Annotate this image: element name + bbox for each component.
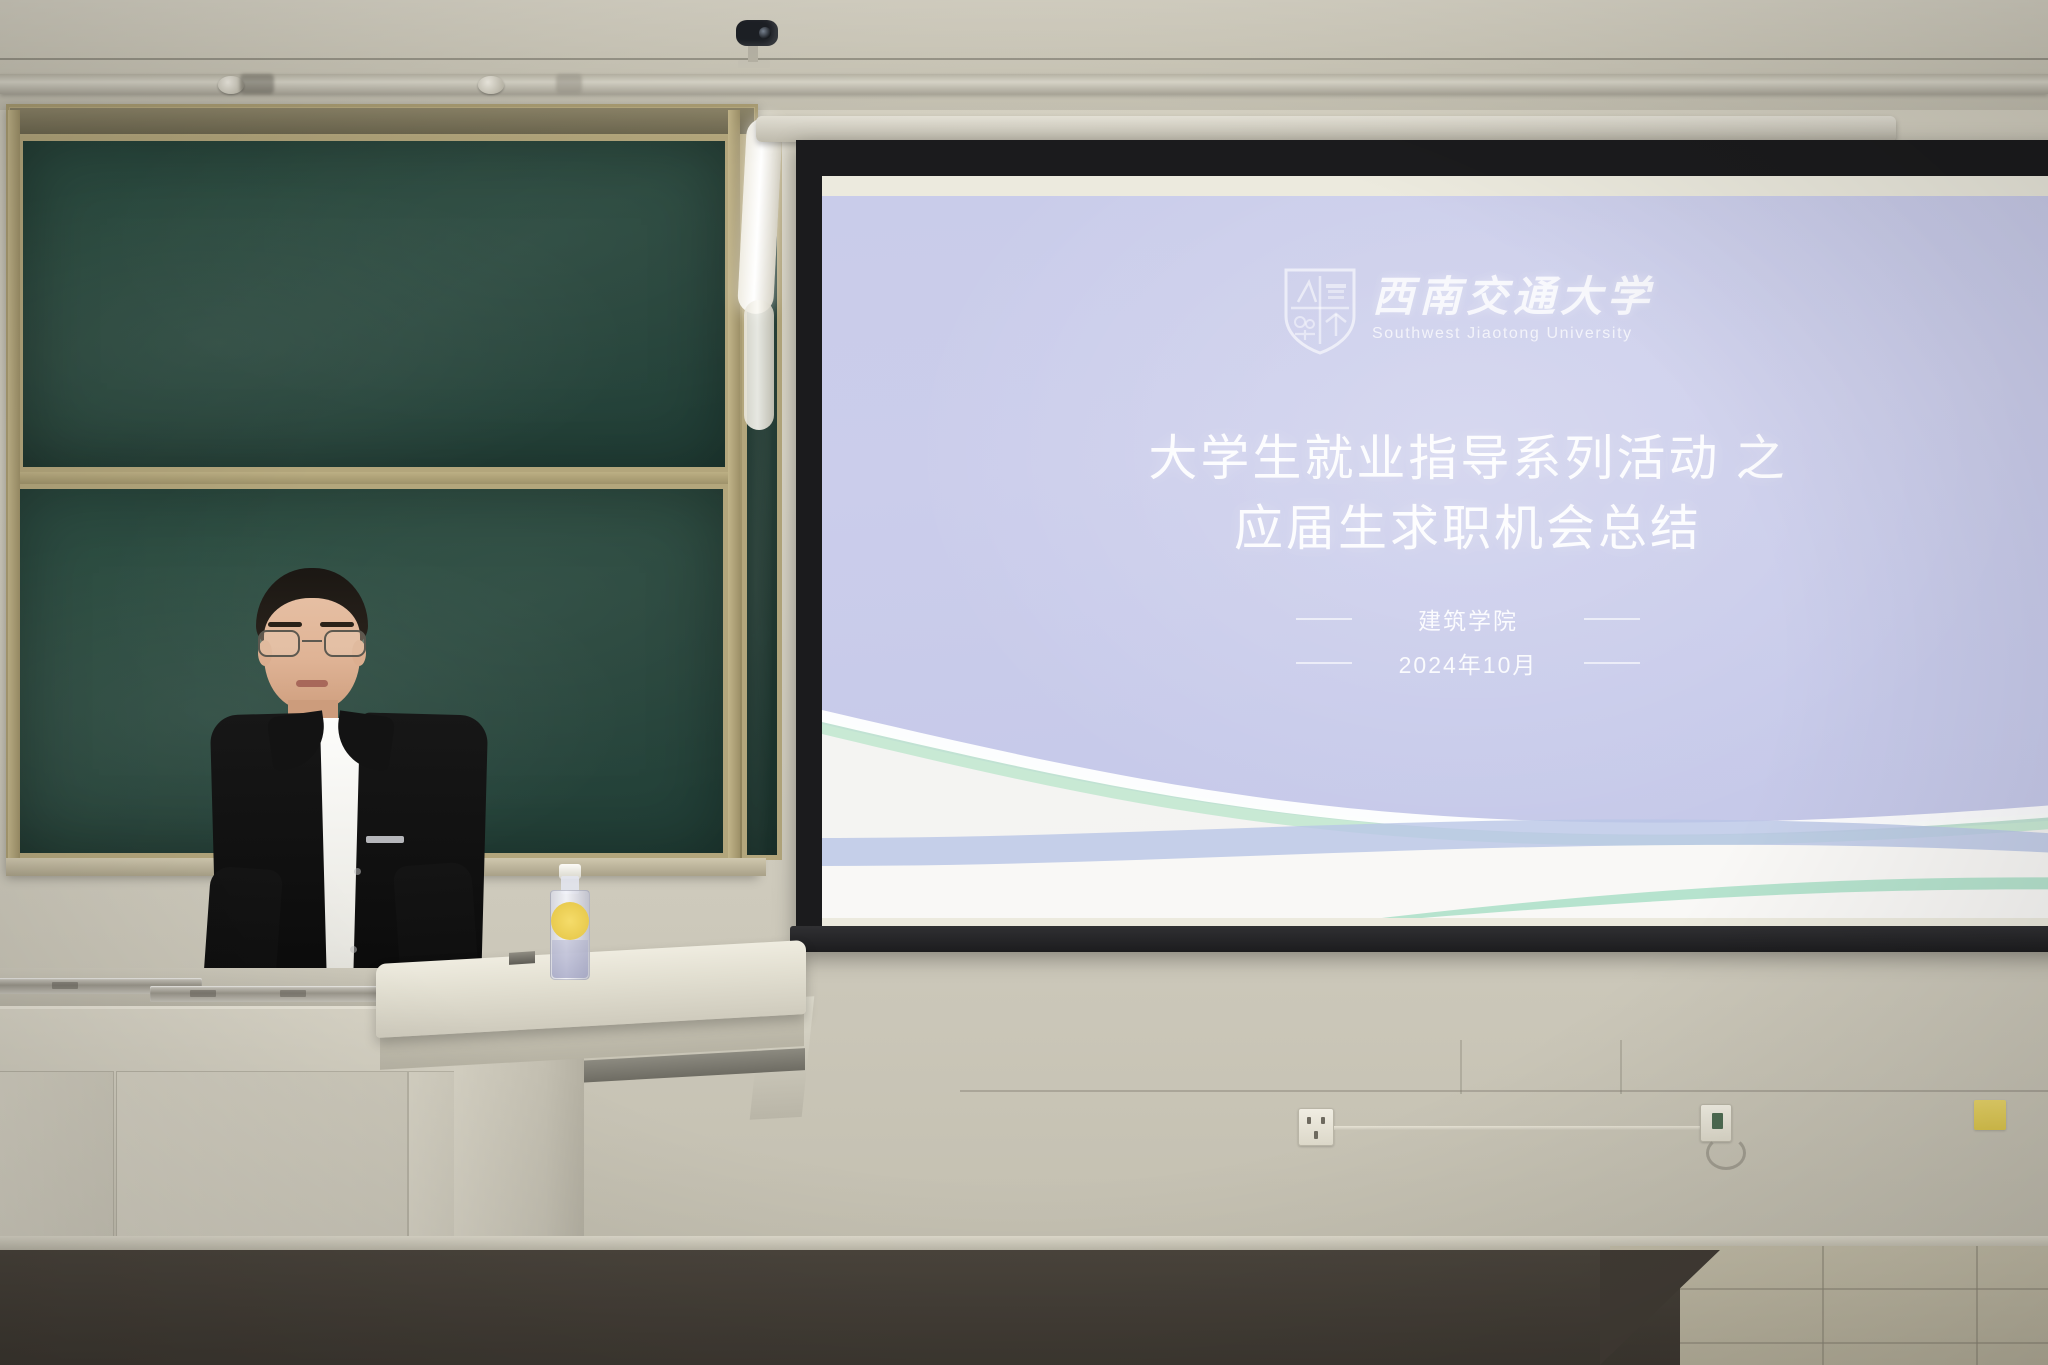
ceiling-fixture-right [478, 76, 504, 94]
jacket-button-1 [354, 868, 361, 875]
chalkboard-rail-left [8, 110, 20, 866]
dash-left-icon [1296, 618, 1352, 620]
logo-english-name: Southwest Jiaotong University [1372, 325, 1633, 343]
eyeglass-lens-right [324, 630, 366, 657]
chalkboard-top-lip [10, 108, 754, 134]
presentation-slide: 西南交通大学 Southwest Jiaotong University 大学生… [822, 196, 2048, 918]
ceiling-bracket [556, 74, 582, 94]
eyeglasses-icon [258, 630, 368, 658]
outlet-slot-c [1314, 1131, 1318, 1139]
camera-lens-icon [759, 27, 771, 39]
outlet-slot-b [1321, 1117, 1325, 1124]
power-outlet[interactable] [1298, 1108, 1334, 1146]
dash-right-icon [1584, 618, 1640, 620]
slide-department: 建筑学院 [1378, 602, 1558, 636]
projector-screen-bottom-bar [790, 926, 2048, 952]
slide-title-line2: 应届生求职机会总结 [822, 494, 2048, 564]
podium-small-card [509, 951, 535, 965]
chalkboard-panel-upper [18, 136, 730, 472]
hanging-cable [1706, 1136, 1746, 1170]
bottle-water-level [552, 940, 588, 978]
slide-subtitle-block: 建筑学院 2024年10月 [822, 602, 2048, 680]
jacket-button-2 [350, 946, 357, 953]
tile-grout-v2 [1976, 1246, 1978, 1365]
ceiling-rail [0, 74, 2048, 94]
tile-grout-v [1822, 1246, 1824, 1365]
presenter-brow-left [268, 622, 302, 627]
jacket-chest-logo [366, 836, 404, 843]
bottle-label [551, 902, 589, 940]
slide-title: 大学生就业指导系列活动 之 应届生求职机会总结 [822, 424, 2048, 563]
wall-seam-horizontal [960, 1090, 2048, 1092]
dark-floor-area [0, 1250, 1680, 1365]
slide-title-line1: 大学生就业指导系列活动 之 [1148, 431, 1787, 486]
fluorescent-tube-lower [744, 300, 774, 430]
dash-right-icon-2 [1584, 662, 1640, 664]
wall-seam-vertical-a [1460, 1040, 1462, 1094]
university-crest-icon [1282, 264, 1358, 356]
wall-sticky-note [1974, 1100, 2006, 1130]
eyeglass-bridge [302, 640, 322, 642]
security-camera-icon [736, 20, 778, 46]
classroom-photo: 西南交通大学 Southwest Jiaotong University 大学生… [0, 0, 2048, 1365]
dash-left-icon-2 [1296, 662, 1352, 664]
ceiling-smudge [240, 74, 274, 94]
subtitle-row-department: 建筑学院 [1296, 602, 1640, 636]
chalkboard-rail-mid [728, 110, 740, 866]
ceiling-seam [0, 58, 2048, 60]
logo-chinese-name: 西南交通大学 [1372, 277, 1654, 319]
outlet-slot-a [1307, 1117, 1311, 1124]
rail-notch-3 [280, 990, 306, 997]
presenter-brow-right [320, 622, 354, 627]
slide-date: 2024年10月 [1378, 646, 1558, 680]
floor-transition-wedge [1600, 1250, 1720, 1365]
camera-mount [748, 44, 758, 62]
university-logo: 西南交通大学 Southwest Jiaotong University [822, 264, 2048, 356]
rail-notch-2 [190, 990, 216, 997]
wall-cable-conduit [1334, 1126, 1704, 1130]
projector-screen-housing [756, 116, 1896, 142]
subtitle-row-date: 2024年10月 [1296, 646, 1640, 680]
presenter-mouth [296, 680, 328, 687]
slide-wave-decoration [822, 688, 2048, 918]
water-bottle[interactable] [548, 862, 592, 980]
network-port [1712, 1113, 1723, 1129]
wall-seam-vertical-b [1620, 1040, 1622, 1094]
eyeglass-lens-left [258, 630, 300, 657]
rail-notch-1 [52, 982, 78, 989]
logo-wordmark: 西南交通大学 Southwest Jiaotong University [1372, 277, 1654, 343]
